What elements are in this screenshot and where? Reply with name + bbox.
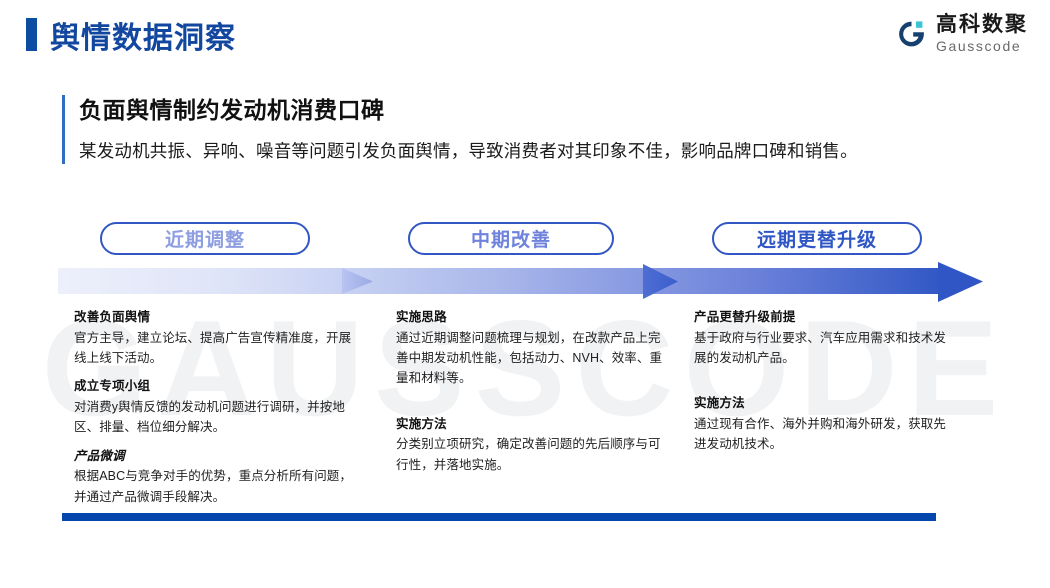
- content-block: 实施方法 通过现有合作、海外并购和海外研发，获取先进发动机技术。: [694, 394, 956, 454]
- stage-pill-near-term[interactable]: 近期调整: [100, 222, 310, 255]
- content-block: 实施思路 通过近期调整问题梳理与规划，在改款产品上完善中期发动机性能，包括动力、…: [396, 308, 664, 389]
- block-heading: 成立专项小组: [74, 377, 362, 396]
- headline: 负面舆情制约发动机消费口碑: [79, 95, 962, 126]
- block-body: 官方主导，建立论坛、提高广告宣传精准度，开展线上线下活动。: [74, 328, 362, 369]
- block-body: 对消费y舆情反馈的发动机问题进行调研，并按地区、排量、档位细分解决。: [74, 397, 362, 438]
- brand-name-cn: 高科数聚: [936, 14, 1028, 35]
- block-body: 根据ABC与竞争对手的优势，重点分析所有问题，并通过产品微调手段解决。: [74, 466, 362, 507]
- content-block: 产品微调 根据ABC与竞争对手的优势，重点分析所有问题，并通过产品微调手段解决。: [74, 447, 362, 507]
- subheadline: 某发动机共振、异响、噪音等问题引发负面舆情，导致消费者对其印象不佳，影响品牌口碑…: [79, 139, 962, 164]
- gausscode-logo-icon: [895, 18, 927, 50]
- column-near-term: 改善负面舆情 官方主导，建立论坛、提高广告宣传精准度，开展线上线下活动。 成立专…: [74, 308, 362, 507]
- block-heading: 产品微调: [74, 447, 362, 466]
- brand-logo-text: 高科数聚 Gausscode: [936, 14, 1028, 53]
- block-heading: 实施思路: [396, 308, 664, 327]
- block-heading: 产品更替升级前提: [694, 308, 956, 327]
- timeline-arrow: [58, 262, 983, 304]
- page-title: 舆情数据洞察: [50, 13, 236, 57]
- block-body: 分类别立项研究，确定改善问题的先后顺序与可行性，并落地实施。: [396, 434, 664, 475]
- content-block: 改善负面舆情 官方主导，建立论坛、提高广告宣传精准度，开展线上线下活动。: [74, 308, 362, 368]
- content-block: 成立专项小组 对消费y舆情反馈的发动机问题进行调研，并按地区、排量、档位细分解决…: [74, 377, 362, 437]
- content-columns: 改善负面舆情 官方主导，建立论坛、提高广告宣传精准度，开展线上线下活动。 成立专…: [0, 308, 1050, 508]
- title-marker-icon: [26, 18, 37, 51]
- stage-pill-long-term[interactable]: 远期更替升级: [712, 222, 922, 255]
- column-mid-term: 实施思路 通过近期调整问题梳理与规划，在改款产品上完善中期发动机性能，包括动力、…: [396, 308, 664, 475]
- slide: GAUSSCODE 舆情数据洞察 高科数聚 Gausscode 负面舆情制约发动…: [0, 0, 1050, 588]
- content-block: 产品更替升级前提 基于政府与行业要求、汽车应用需求和技术发展的发动机产品。: [694, 308, 956, 368]
- block-body: 通过近期调整问题梳理与规划，在改款产品上完善中期发动机性能，包括动力、NVH、效…: [396, 328, 664, 389]
- block-spacer: [694, 368, 956, 394]
- block-heading: 实施方法: [694, 394, 956, 413]
- block-heading: 改善负面舆情: [74, 308, 362, 327]
- block-body: 基于政府与行业要求、汽车应用需求和技术发展的发动机产品。: [694, 328, 956, 369]
- column-long-term: 产品更替升级前提 基于政府与行业要求、汽车应用需求和技术发展的发动机产品。 实施…: [694, 308, 956, 455]
- block-spacer: [396, 389, 664, 415]
- heading-block: 负面舆情制约发动机消费口碑 某发动机共振、异响、噪音等问题引发负面舆情，导致消费…: [62, 95, 962, 164]
- block-body: 通过现有合作、海外并购和海外研发，获取先进发动机技术。: [694, 414, 956, 455]
- stage-pill-mid-term[interactable]: 中期改善: [408, 222, 614, 255]
- slide-header: 舆情数据洞察 高科数聚 Gausscode: [0, 0, 1050, 72]
- brand-name-en: Gausscode: [936, 39, 1028, 53]
- stage-pill-group: 近期调整 中期改善 远期更替升级: [0, 222, 1050, 256]
- content-block: 实施方法 分类别立项研究，确定改善问题的先后顺序与可行性，并落地实施。: [396, 415, 664, 475]
- footer-rule: [62, 513, 936, 521]
- block-heading: 实施方法: [396, 415, 664, 434]
- brand-logo: 高科数聚 Gausscode: [895, 14, 1028, 53]
